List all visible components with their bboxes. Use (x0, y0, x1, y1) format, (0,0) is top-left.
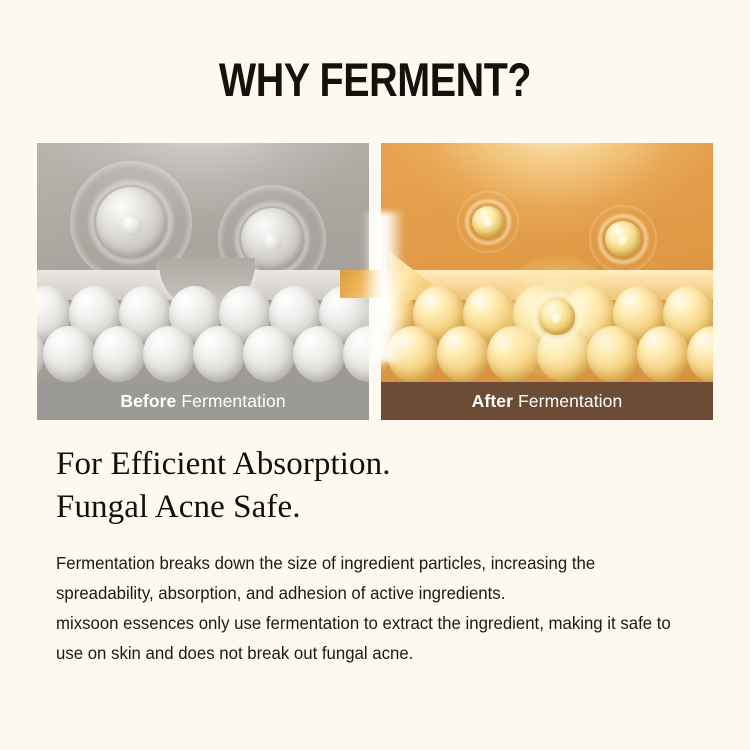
pearl-cell (437, 326, 489, 382)
particle-nucleus (121, 215, 142, 236)
before-caption: Before Fermentation (37, 382, 369, 420)
after-caption: After Fermentation (381, 382, 713, 420)
pearl-cell (637, 326, 689, 382)
before-panel: Before Fermentation (37, 143, 369, 420)
arrow-right-icon (338, 248, 434, 320)
before-caption-rest: Fermentation (181, 391, 285, 412)
before-illustration (37, 143, 369, 382)
ingredient-particle-small (589, 205, 657, 273)
body-paragraph-2: mixsoon essences only use fermentation t… (56, 608, 693, 668)
ingredient-particle-penetrating (523, 283, 591, 351)
before-caption-emphasis: Before (120, 391, 176, 412)
pearl-cell (143, 326, 195, 382)
ingredient-particle-small (457, 191, 519, 253)
pearl-cell (293, 326, 345, 382)
pearl-cell (587, 326, 639, 382)
page-title: WHY FERMENT? (60, 52, 690, 107)
before-after-comparison: Before Fermentation (37, 143, 713, 420)
headline-line-1: For Efficient Absorption. (56, 443, 391, 486)
pearl-cell (243, 326, 295, 382)
pearl-cell (193, 326, 245, 382)
pearl-cell (687, 326, 713, 382)
after-caption-rest: Fermentation (518, 391, 622, 412)
pearl-cell (43, 326, 95, 382)
headline: For Efficient Absorption. Fungal Acne Sa… (56, 443, 391, 529)
after-caption-emphasis: After (472, 391, 513, 412)
pearl-cell (93, 326, 145, 382)
headline-line-2: Fungal Acne Safe. (56, 486, 391, 529)
body-copy: Fermentation breaks down the size of ing… (56, 548, 693, 668)
skin-barrier-before (37, 270, 369, 382)
pearl-row (37, 326, 365, 382)
particle-nucleus (484, 219, 493, 228)
particle-nucleus (263, 233, 281, 251)
body-paragraph-1: Fermentation breaks down the size of ing… (56, 548, 693, 608)
arrow-light-flare (362, 212, 404, 362)
